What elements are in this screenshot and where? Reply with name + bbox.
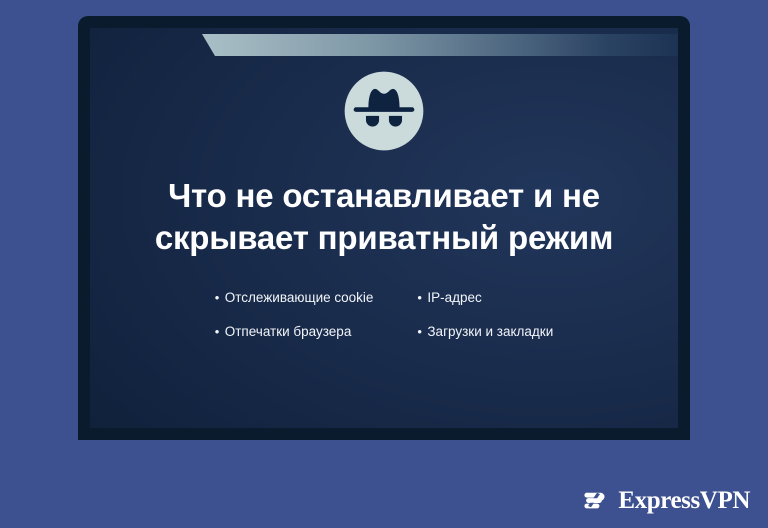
bullet-dot-icon: • [417,290,427,306]
bullet-text: IP-адрес [427,290,481,306]
bullet-text: Отслеживающие cookie [225,290,374,306]
bullet-text: Загрузки и закладки [427,324,553,340]
slide-canvas: Что не останавливает и не скрывает прива… [0,0,768,528]
laptop-base [14,437,755,468]
bullet-columns: • Отслеживающие cookie • Отпечатки брауз… [90,290,678,340]
laptop-screen: Что не останавливает и не скрывает прива… [90,28,678,428]
headline-line-1: Что не останавливает и не [124,175,644,217]
headline-line-2: скрывает приватный режим [124,217,644,259]
bullet-dot-icon: • [417,324,427,340]
bullet-dot-icon: • [215,290,225,306]
expressvpn-wordmark: ExpressVPN [618,488,750,513]
bullet-text: Отпечатки браузера [225,324,352,340]
incognito-hat-icon [343,70,425,152]
screen-highlight-bar [90,34,678,56]
bullet-column-2: • IP-адрес • Загрузки и закладки [417,290,553,340]
bullet-dot-icon: • [215,324,225,340]
list-item: • IP-адрес [417,290,553,306]
bullet-column-1: • Отслеживающие cookie • Отпечатки брауз… [215,290,374,340]
list-item: • Отпечатки браузера [215,324,374,340]
list-item: • Отслеживающие cookie [215,290,374,306]
expressvpn-logo: ExpressVPN [579,485,750,515]
slide-headline: Что не останавливает и не скрывает прива… [124,175,644,259]
list-item: • Загрузки и закладки [417,324,553,340]
expressvpn-e-mark-icon [579,485,609,515]
laptop-illustration: Что не останавливает и не скрывает прива… [0,0,768,528]
